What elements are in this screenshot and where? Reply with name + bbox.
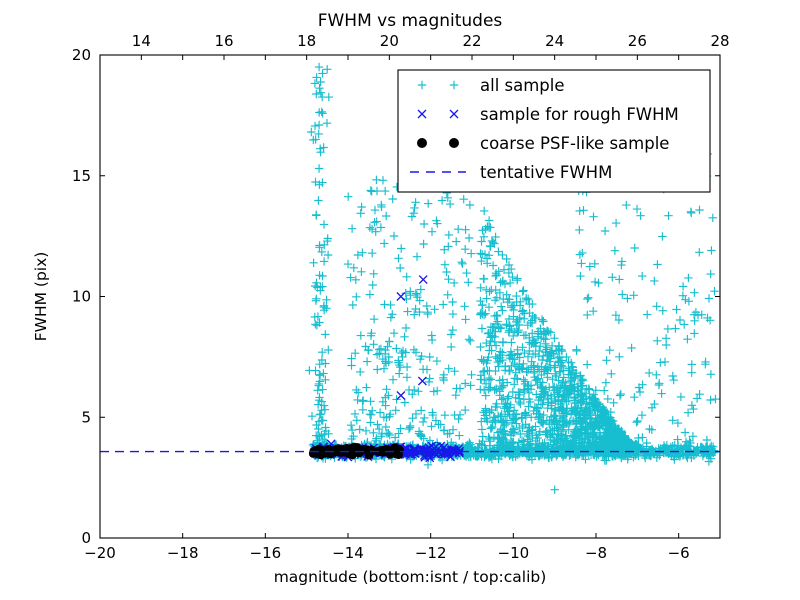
data-point-plus [479,275,487,283]
data-point-plus [311,79,319,87]
data-point-plus [498,306,506,314]
data-point-plus [402,289,410,297]
data-point-plus [396,264,404,272]
data-point-plus [380,365,388,373]
data-point-plus [506,366,514,374]
data-point-plus [397,349,405,357]
data-point-plus [357,331,365,339]
data-point-plus [617,390,625,398]
data-point-plus [688,360,696,368]
left-tick-label: 10 [72,288,91,306]
data-point-plus [664,325,672,333]
figure-canvas: all samplesample for rough FWHMcoarse PS… [0,0,800,600]
data-point-plus [359,396,367,404]
data-point-plus [312,211,320,219]
data-point-dot [366,446,375,455]
data-point-plus [589,213,597,221]
data-point-plus [389,376,397,384]
data-point-plus [576,272,584,280]
legend-label-2: sample for rough FWHM [480,105,679,124]
data-point-plus [710,287,718,295]
data-point-plus [377,223,385,231]
data-point-plus [689,405,697,413]
data-point-plus [627,344,635,352]
data-point-dot [449,138,459,148]
data-point-plus [466,381,474,389]
data-point-plus [703,436,711,444]
data-point-plus [353,416,361,424]
data-point-plus [351,349,359,357]
data-point-plus [305,366,313,374]
data-point-plus [464,278,472,286]
data-point-plus [709,214,717,222]
data-point-plus [461,315,469,323]
data-point-plus [357,203,365,211]
data-point-plus [476,385,484,393]
data-point-plus [681,428,689,436]
data-point-plus [428,331,436,339]
data-point-plus [607,370,615,378]
data-point-plus [643,310,651,318]
data-point-plus [321,376,329,384]
data-point-plus [608,273,616,281]
bottom-tick-label: −8 [585,544,607,562]
data-point-plus [658,232,666,240]
data-point-plus [476,249,484,257]
legend-label-1: all sample [480,76,565,95]
data-point-plus [507,338,515,346]
data-point-plus [444,275,452,283]
data-point-plus [347,354,355,362]
data-point-plus [366,223,374,231]
data-point-plus [467,249,475,257]
data-point-plus [679,282,687,290]
data-point-plus [312,297,320,305]
data-point-plus [669,372,677,380]
data-point-plus [308,412,316,420]
data-point-plus [320,257,328,265]
data-point-plus [477,355,485,363]
data-point-plus [446,200,454,208]
data-point-plus [499,338,507,346]
data-point-plus [602,356,610,364]
data-point-x [418,377,426,385]
bottom-tick-label: −10 [498,544,530,562]
data-point-plus [653,302,661,310]
data-point-plus [492,312,500,320]
data-point-plus [615,353,623,361]
data-point-plus [467,371,475,379]
data-point-plus [325,93,333,101]
scatter-plot: all samplesample for rough FWHMcoarse PS… [0,0,800,600]
data-point-plus [314,196,322,204]
data-point-plus [589,307,597,315]
data-point-plus [424,199,432,207]
data-point-x [397,392,405,400]
data-point-plus [346,273,354,281]
data-point-plus [519,286,527,294]
data-point-plus [433,357,441,365]
data-point-plus [612,219,620,227]
data-point-plus [357,268,365,276]
data-point-plus [373,365,381,373]
data-point-plus [426,353,434,361]
data-point-plus [353,396,361,404]
data-point-plus [652,371,660,379]
data-point-plus [466,201,474,209]
data-point-plus [695,248,703,256]
data-point-plus [655,381,663,389]
data-point-plus [575,226,583,234]
data-point-plus [307,128,315,136]
data-point-plus [684,274,692,282]
data-point-plus [309,259,317,267]
data-point-plus [551,486,559,494]
data-point-plus [396,424,404,432]
data-point-plus [656,358,664,366]
data-point-plus [465,335,473,343]
data-point-plus [466,337,474,345]
data-point-plus [701,360,709,368]
data-point-plus [616,391,624,399]
data-point-plus [315,382,323,390]
data-point-plus [592,386,600,394]
data-point-plus [638,411,646,419]
data-point-plus [323,65,331,73]
data-point-plus [478,301,486,309]
data-point-plus [351,410,359,418]
data-point-plus [583,360,591,368]
data-point-plus [402,324,410,332]
x-axis-label: magnitude (bottom:isnt / top:calib) [274,568,547,586]
data-point-plus [417,285,425,293]
data-point-plus [441,261,449,269]
data-point-plus [648,426,656,434]
data-point-plus [538,315,546,323]
data-point-plus [447,343,455,351]
data-point-plus [606,346,614,354]
data-point-plus [354,251,362,259]
data-point-plus [456,411,464,419]
y-axis-label: FWHM (pix) [32,252,50,342]
data-point-plus [311,122,319,130]
data-point-plus [687,208,695,216]
data-point-plus [381,187,389,195]
left-tick-label: 15 [72,167,91,185]
data-point-plus [507,265,515,273]
data-point-plus [394,254,402,262]
data-point-plus [460,195,468,203]
data-point-plus [487,375,495,383]
data-point-plus [483,259,491,267]
data-point-plus [314,386,322,394]
data-point-plus [370,270,378,278]
data-point-plus [317,410,325,418]
data-point-plus [577,259,585,267]
data-point-plus [352,276,360,284]
data-point-plus [572,346,580,354]
data-point-plus [349,301,357,309]
data-point-plus [705,294,713,302]
top-tick-label: 24 [545,32,564,50]
data-point-plus [600,386,608,394]
left-tick-label: 5 [81,408,91,426]
data-point-plus [369,281,377,289]
data-point-plus [315,164,323,172]
data-point-plus [318,385,326,393]
data-point-plus [449,326,457,334]
data-point-plus [477,284,485,292]
data-point-plus [632,418,640,426]
data-point-plus [653,260,661,268]
data-point-plus [377,345,385,353]
data-point-plus [419,240,427,248]
legend-label-4: tentative FWHM [480,163,612,182]
data-point-plus [461,406,469,414]
data-point-plus [373,350,381,358]
data-point-dot [417,138,427,148]
legend-layer[interactable]: all samplesample for rough FWHMcoarse PS… [398,70,710,192]
left-tick-label: 0 [81,529,91,547]
data-point-dot [337,448,346,457]
data-point-plus [683,335,691,343]
data-point-plus [659,307,667,315]
bottom-tick-label: −16 [250,544,282,562]
data-point-plus [445,231,453,239]
data-point-plus [423,365,431,373]
data-point-dot [309,449,318,458]
data-point-dot [344,449,353,458]
data-point-plus [645,425,653,433]
data-point-plus [397,244,405,252]
data-point-plus [348,426,356,434]
data-point-plus [672,305,680,313]
data-point-plus [671,324,679,332]
data-point-plus [476,343,484,351]
data-point-plus [461,226,469,234]
data-point-plus [427,422,435,430]
data-point-plus [315,371,323,379]
data-point-plus [316,360,324,368]
data-point-plus [424,310,432,318]
data-point-plus [428,228,436,236]
data-point-plus [478,324,486,332]
data-point-plus [382,385,390,393]
data-point-plus [487,424,495,432]
data-point-plus [419,418,427,426]
data-point-plus [688,369,696,377]
data-point-plus [385,337,393,345]
data-point-plus [514,326,522,334]
data-point-plus [390,232,398,240]
data-point-plus [395,369,403,377]
data-point-plus [454,225,462,233]
bottom-tick-label: −6 [668,544,690,562]
data-point-plus [450,279,458,287]
data-point-plus [583,311,591,319]
data-point-plus [645,369,653,377]
data-point-plus [386,301,394,309]
data-point-plus [363,357,371,365]
data-point-plus [441,411,449,419]
data-point-plus [524,295,532,303]
data-point-plus [638,272,646,280]
data-point-plus [369,340,377,348]
data-point-plus [706,396,714,404]
data-point-plus [664,212,672,220]
data-point-plus [688,401,696,409]
data-point-plus [356,368,364,376]
data-point-plus [609,399,617,407]
data-point-plus [439,300,447,308]
data-point-plus [680,320,688,328]
data-point-plus [324,346,332,354]
data-point-plus [657,389,665,397]
data-point-dot [324,446,333,455]
data-point-plus [487,286,495,294]
data-point-plus [633,417,641,425]
top-tick-label: 16 [214,32,233,50]
data-point-plus [458,258,466,266]
data-point-plus [373,217,381,225]
data-point-plus [320,220,328,228]
data-point-plus [382,212,390,220]
data-point-plus [497,302,505,310]
bottom-tick-label: −12 [415,544,447,562]
data-point-plus [358,249,366,257]
data-point-plus [367,411,375,419]
data-point-plus [633,205,641,213]
data-point-plus [423,302,431,310]
data-point-plus [348,225,356,233]
data-point-plus [318,282,326,290]
data-point-plus [318,348,326,356]
data-point-plus [461,245,469,253]
top-tick-label: 28 [710,32,729,50]
top-tick-label: 14 [132,32,151,50]
data-point-plus [448,298,456,306]
data-point-plus [403,363,411,371]
data-point-plus [447,330,455,338]
data-point-plus [357,209,365,217]
data-point-plus [400,333,408,341]
data-point-plus [376,408,384,416]
legend-label-3: coarse PSF-like sample [480,134,669,153]
data-point-plus [630,393,638,401]
data-point-plus [368,187,376,195]
data-point-plus [636,212,644,220]
data-point-plus [312,73,320,81]
data-point-plus [316,78,324,86]
data-point-plus [390,329,398,337]
data-point-plus [602,379,610,387]
data-point-plus [350,264,358,272]
data-point-plus [476,375,484,383]
data-point-plus [344,193,352,201]
data-point-plus [460,302,468,310]
data-point-plus [449,310,457,318]
data-point-plus [707,370,715,378]
data-point-plus [321,330,329,338]
data-point-plus [584,294,592,302]
data-point-plus [618,290,626,298]
figure-title: FWHM vs magnitudes [318,11,503,31]
data-point-plus [444,291,452,299]
data-point-plus [412,289,420,297]
data-point-plus [631,244,639,252]
data-point-plus [661,358,669,366]
data-point-plus [454,415,462,423]
data-point-plus [550,334,558,342]
data-point-plus [410,386,418,394]
data-point-plus [516,430,524,438]
data-point-plus [359,406,367,414]
bottom-tick-label: −18 [167,544,199,562]
data-point-plus [707,246,715,254]
data-point-plus [617,261,625,269]
data-point-plus [356,425,364,433]
data-point-plus [662,334,670,342]
data-point-plus [601,227,609,235]
data-point-x [397,293,405,301]
data-point-plus [370,315,378,323]
data-point-plus [403,373,411,381]
data-point-plus [362,383,370,391]
data-point-plus [579,206,587,214]
data-point-plus [489,261,497,269]
data-point-plus [366,290,374,298]
data-point-plus [611,247,619,255]
data-point-plus [690,289,698,297]
data-point-plus [379,176,387,184]
data-point-plus [458,260,466,268]
data-point-plus [362,427,370,435]
data-point-plus [420,220,428,228]
data-point-plus [622,201,630,209]
data-point-plus [452,391,460,399]
top-tick-label: 26 [628,32,647,50]
data-point-plus [323,119,331,127]
data-point-plus [707,270,715,278]
data-point-x [419,276,427,284]
bottom-tick-label: −14 [332,544,364,562]
data-point-plus [461,379,469,387]
data-point-plus [352,293,360,301]
data-point-plus [344,260,352,268]
top-tick-label: 18 [297,32,316,50]
data-point-plus [315,241,323,249]
left-tick-label: 20 [72,46,91,64]
data-point-plus [442,268,450,276]
data-point-plus [368,249,376,257]
data-point-plus [465,234,473,242]
data-point-plus [380,239,388,247]
data-point-plus [576,207,584,215]
data-point-plus [317,89,325,97]
data-point-plus [315,121,323,129]
data-point-plus [615,275,623,283]
data-point-plus [650,277,658,285]
data-point-plus [358,397,366,405]
data-point-plus [638,433,646,441]
data-point-plus [413,253,421,261]
data-point-plus [347,421,355,429]
data-point-plus [480,207,488,215]
data-point-plus [366,397,374,405]
data-point-plus [373,420,381,428]
data-point-plus [452,237,460,245]
data-point-plus [403,273,411,281]
